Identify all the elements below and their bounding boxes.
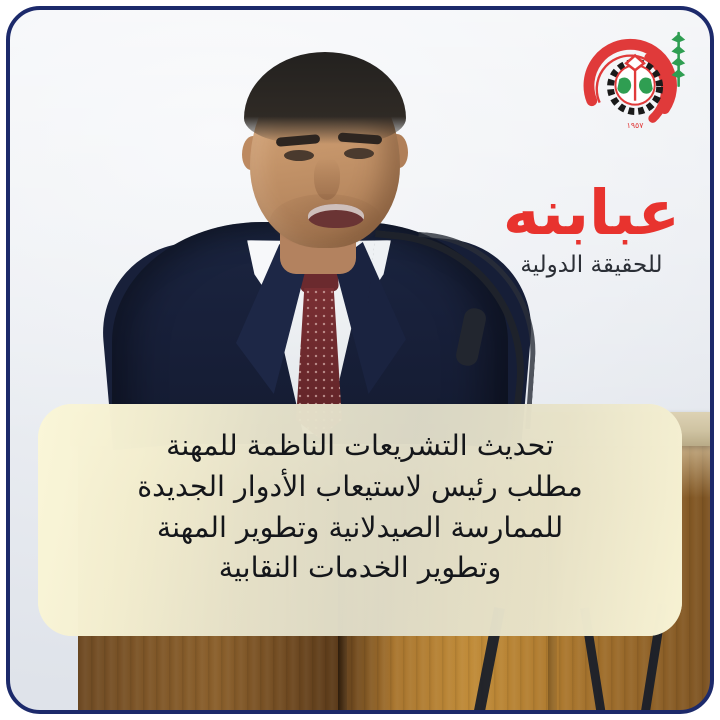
brand-name: عبابنه [503, 182, 680, 244]
news-card: ١٩٥٧ عبابنه للحقيقة الدولية تحديث التشري… [0, 0, 720, 720]
caption-line: وتطوير الخدمات النقابية [68, 548, 652, 589]
caption-line: مطلب رئيس لاستيعاب الأدوار الجديدة [68, 467, 652, 508]
eye-left [284, 150, 314, 161]
caption-line: تحديث التشريعات الناظمة للمهنة [68, 426, 652, 467]
association-logo: ١٩٥٧ [580, 24, 698, 142]
caption-line: للممارسة الصيدلانية وتطوير المهنة [68, 508, 652, 549]
brand-block: عبابنه للحقيقة الدولية [503, 182, 680, 280]
nose [314, 158, 340, 200]
eye-right [344, 148, 374, 159]
logo-founded-year: ١٩٥٧ [627, 121, 644, 130]
mouth [308, 204, 364, 228]
caption-panel: تحديث التشريعات الناظمة للمهنة مطلب رئيس… [38, 404, 682, 636]
hair [244, 52, 406, 144]
caption-text: تحديث التشريعات الناظمة للمهنة مطلب رئيس… [38, 404, 682, 607]
brand-subtitle: للحقيقة الدولية [503, 252, 680, 280]
